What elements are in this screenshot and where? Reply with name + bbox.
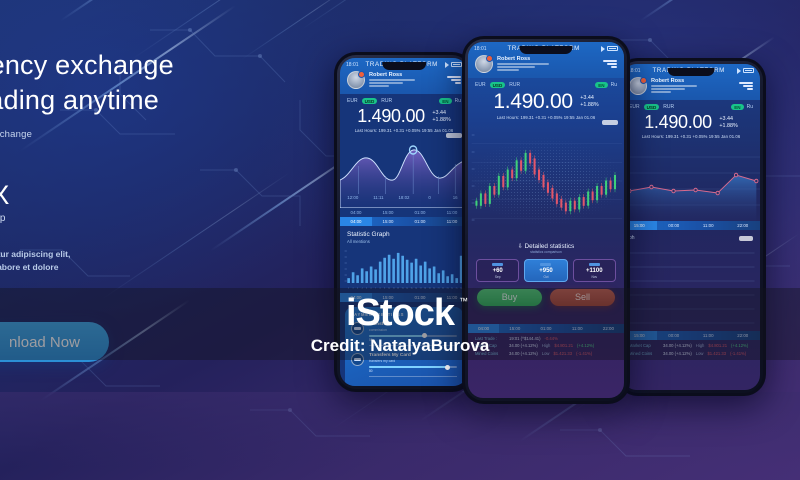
currency-row[interactable]: EUR USD RUR EN Ru [340,94,468,104]
row-label-2: High [696,343,705,348]
price-delta: +3.44 +1.88% [719,116,737,130]
axis-tick[interactable]: 04:00 [340,217,372,226]
marketing-copy: urrency exchange , trading anytime ons f… [0,48,256,274]
currency-row[interactable]: EUR USD RUR EN Ru [468,78,624,88]
stat-card-month: Sep [478,275,517,279]
phone-right-screen: 18:01 TRADING PLATFORM Robert Ross [622,64,760,390]
svg-text:1: 1 [348,288,349,290]
hamburger-menu-icon[interactable] [603,60,617,68]
price-delta-abs: +3.44 [719,116,733,122]
axis-active-right[interactable]: 15:0000:0011:0022:00 [622,221,760,230]
uiux-title: I/UX [0,180,256,211]
axis-tick[interactable]: 15:00 [499,324,530,333]
price-value: 1.490.00 [493,90,572,114]
axis-tick[interactable]: 00:00 [657,221,692,230]
battery-icon [451,62,462,67]
axis-active-left-2[interactable]: 04:0015:0001:0011:00 [340,293,468,302]
svg-text:19: 19 [429,288,431,290]
trade-actions: Buy Sell [468,284,624,310]
transfers-slider[interactable] [369,335,457,337]
statistic-graph-subtitle: All mentions [340,238,468,247]
axis-tick[interactable]: 01:00 [530,324,561,333]
svg-text:25: 25 [456,288,458,290]
center-market-table: Last Trade :19:01 (^$144.41)-0.44%Market… [468,333,624,364]
row-value: 34.00 (+4.12%) [663,343,692,348]
card-icon [351,322,364,335]
svg-text:17: 17 [420,288,422,290]
left-area-chart: 12:0011:1118:02016 [340,136,468,208]
payment-row-transfers[interactable]: Transfers commission 55 [351,322,457,346]
axis-tick[interactable]: 04:00 [468,324,499,333]
floor-reflection [0,392,800,480]
svg-text:24: 24 [451,288,453,290]
axis-tick[interactable]: 22:00 [726,221,761,230]
axis-active-center[interactable]: 04:0015:0001:0011:0022:00 [468,324,624,333]
axis-tick[interactable]: 11:00 [691,331,726,340]
row-change-2: (-1.41%) [730,351,746,356]
status-time: 18:01 [346,62,359,68]
svg-text:7: 7 [375,288,376,290]
payment-row-value: 55 [369,338,457,342]
axis-tick[interactable]: 15:00 [372,293,404,302]
left-chart-tick[interactable]: 11:11 [366,193,392,202]
row-label: Market Cap [475,343,505,348]
left-chart-tick[interactable]: 18:02 [391,193,417,202]
axis-tick[interactable]: 11:00 [691,221,726,230]
svg-text:12: 12 [397,288,399,290]
stat-card-sep[interactable]: +60Sep [476,259,519,282]
price-block: 1.490.00 +3.44 +1.88% Last Hours: 199.31… [340,104,468,134]
avatar[interactable] [475,55,493,73]
notch [519,46,572,54]
axis-tick[interactable]: 22:00 [726,331,761,340]
banner-stage: urrency exchange , trading anytime ons f… [0,0,800,480]
price-subline: Last Hours: 199.31 +0.31 +0.05% 19:55 Ja… [468,115,624,120]
stat-card-nov[interactable]: +1100Nov [573,259,616,282]
profile-placeholder-bars [651,85,697,93]
detailed-statistics-header[interactable]: ⇩ Detailed statistics statistics compari… [468,237,624,255]
axis-tick[interactable]: 22:00 [593,324,624,333]
payment-settings-title: PAYMENT SETTINGS [351,312,457,317]
center-table-row: Market Cap34.00 (+4.12%)High$4.801.21(+4… [475,343,617,348]
center-table-row: Last Trade :19:01 (^$144.41)-0.44% [475,336,617,341]
phone-right: 18:01 TRADING PLATFORM Robert Ross [616,58,766,396]
row-change-2: (-1.41%) [576,351,592,356]
profile-row[interactable]: Robert Ross [468,53,624,78]
stat-card-value: +950 [526,268,565,274]
payment-row-name: Transfers [369,322,457,327]
price-delta-abs: +3.44 [432,110,446,116]
subcopy-text: ons for exchange [0,129,256,140]
row-value: 19:01 (^$144.41) [509,336,541,341]
svg-text:4: 4 [362,288,363,290]
svg-text:23: 23 [447,288,449,290]
svg-text:5: 5 [366,288,367,290]
price-value: 1.490.00 [644,112,712,133]
currency-row[interactable]: EUR USD RUR EN Ru [622,100,760,110]
right-line-chart [622,143,760,221]
uiux-subtitle: Mobile App [0,213,256,224]
row-label: Mined Coins [629,351,659,356]
phone-center: 18:01 TRADING PLATFORM Robert Ross [462,36,630,404]
row-change-2: (+4.12%) [577,343,594,348]
right-table-row: Market Cap34.00 (+4.12%)High$4.801.21(+4… [629,343,753,348]
price-block: 1.490.00 +3.44 +1.88% Last Hours: 199.31… [468,88,624,121]
detailed-statistics-title: Detailed statistics [525,243,575,250]
axis-tick[interactable]: 01:00 [404,208,436,217]
svg-text:20: 20 [433,288,435,290]
sell-button[interactable]: Sell [550,289,615,306]
card-icon [351,353,364,366]
row-label: Mined Coins [475,351,505,356]
row-value: 34.00 (+4.12%) [663,351,692,356]
profile-placeholder-bars [497,63,549,71]
chart-toggle-button[interactable] [739,236,753,241]
svg-text:15: 15 [411,288,413,290]
row-value: 34.00 (+4.12%) [509,351,538,356]
transfers-my-card-slider[interactable] [369,366,457,368]
price-delta-pct: +1.88% [580,102,598,108]
svg-text:6: 6 [371,288,372,290]
axis-tick[interactable]: 11:00 [562,324,593,333]
left-chart-tick[interactable]: 12:00 [340,193,366,202]
svg-text:18: 18 [424,288,426,290]
lorem-line-1: , consectetur adipiscing elit, [0,248,256,261]
svg-text:21: 21 [438,288,440,290]
svg-text:16: 16 [415,288,417,290]
row-value-2: $4.801.21 [554,343,573,348]
axis-inactive-left[interactable]: 04:0015:0001:0011:00 [340,208,468,217]
row-value-2: $4.801.21 [708,343,727,348]
price-delta: +3.44 +1.88% [432,110,450,124]
axis-active-left[interactable]: 04:0015:0001:0011:00 [340,217,468,226]
center-table-row: Mined Coins34.00 (+4.12%)Low$1.421.33(-1… [475,351,617,356]
stat-card-month: Oct [526,275,565,279]
payment-row-desc: commission [369,328,457,332]
svg-text:9: 9 [384,288,385,290]
detailed-statistics-subtitle: statistics comparison [468,250,624,254]
svg-text:11: 11 [393,288,395,290]
left-chart-ticks: 12:0011:1118:02016 [340,193,468,202]
stat-cards: +60Sep+950Oct+1100Nov [468,255,624,284]
axis-tick[interactable]: 04:00 [340,293,372,302]
signal-icon [737,68,741,74]
payment-row-transfers-my-card[interactable]: Transfers My Card transfers my card 80 [351,353,457,377]
signal-icon [445,62,449,68]
axis-tick[interactable]: 04:00 [340,208,372,217]
svg-text:10: 10 [388,288,390,290]
svg-text:8: 8 [380,288,381,290]
axis-tick[interactable]: 01:00 [404,293,436,302]
svg-text:3: 3 [357,288,358,290]
row-label-2: Low [696,351,704,356]
payment-row-desc: transfers my card [369,359,457,363]
hamburger-menu-icon[interactable] [447,76,461,84]
phone-left: 18:01 TRADING PLATFORM Robert Ross [334,52,474,392]
price-block: 1.490.00 +3.44 +1.88% Last Hours: 199.31… [622,110,760,140]
left-chart-tick[interactable]: 0 [417,193,443,202]
price-delta-abs: +3.44 [580,95,594,101]
download-now-button[interactable]: nload Now [0,322,109,362]
buy-button[interactable]: Buy [477,289,542,306]
row-label-2: Low [542,351,550,356]
stat-card-cap [589,263,600,266]
svg-text:22: 22 [442,288,444,290]
right-secondary-chart [622,243,760,331]
left-bar-chart: 1234567891011121314151617181920212223242… [340,247,468,293]
stat-card-month: Nov [575,275,614,279]
row-label: Market Cap [629,343,659,348]
stat-card-value: +1100 [575,268,614,274]
headline-line-2: , trading anytime [0,83,256,118]
row-label-2: High [542,343,551,348]
signal-icon [601,46,605,52]
row-label: Last Trade : [475,336,505,341]
axis-tick[interactable]: 01:00 [404,217,436,226]
row-change: -0.44% [545,336,558,341]
axis-tick[interactable]: 00:00 [657,331,692,340]
row-value: 34.00 (+4.12%) [509,343,538,348]
row-value-2: $1.421.33 [707,351,726,356]
avatar[interactable] [347,71,365,89]
svg-text:13: 13 [402,288,404,290]
profile-name: Robert Ross [651,78,697,84]
profile-name: Robert Ross [497,56,549,62]
axis-tick[interactable]: 15:00 [372,217,404,226]
price-delta-pct: +1.88% [432,117,450,123]
axis-tick[interactable]: 15:00 [372,208,404,217]
notch [382,62,426,70]
lorem-line-2: didunt ut labore et dolore [0,261,256,274]
price-value: 1.490.00 [357,106,425,127]
profile-row[interactable]: Robert Ross [340,69,468,94]
price-delta-pct: +1.88% [719,123,737,129]
stat-card-cap [540,263,551,266]
profile-placeholder-bars [369,79,415,87]
payment-row-value: 80 [369,369,457,373]
phone-left-screen: 18:01 TRADING PLATFORM Robert Ross [340,58,468,386]
stat-card-value: +60 [478,268,517,274]
download-arrow-icon: ⇩ [518,244,523,250]
battery-icon [607,46,618,51]
payment-row-name: Transfers My Card [369,353,457,358]
price-delta: +3.44 +1.88% [580,95,598,109]
battery-icon [743,68,754,73]
svg-text:14: 14 [406,288,408,290]
hamburger-menu-icon[interactable] [739,82,753,90]
statistic-graph-title: Statistic Graph [340,226,468,238]
row-value-2: $1.421.33 [553,351,572,356]
right-market-table: Market Cap34.00 (+4.12%)High$4.801.21(+4… [622,340,760,363]
payment-settings-card: PAYMENT SETTINGS Transfers commission 55 [345,307,463,386]
headline-line-1: urrency exchange [0,48,256,83]
axis-active-right-2[interactable]: 15:0000:0011:0022:00 [622,331,760,340]
avatar[interactable] [629,77,647,95]
stat-card-cap [492,263,503,266]
center-candlestick-chart [468,125,624,237]
profile-row[interactable]: Robert Ross [622,75,760,100]
svg-text:2: 2 [353,288,354,290]
profile-name: Robert Ross [369,72,415,78]
right-table-row: Mined Coins34.00 (+4.12%)Low$1.421.33(-1… [629,351,753,356]
stat-card-oct[interactable]: +950Oct [524,259,567,282]
phone-center-screen: 18:01 TRADING PLATFORM Robert Ross [468,42,624,398]
notch [668,68,715,76]
price-subline: Last Hours: 199.31 +0.31 +0.05% 19:55 Ja… [622,134,760,139]
status-time: 18:01 [474,46,487,52]
row-change-2: (+4.12%) [731,343,748,348]
